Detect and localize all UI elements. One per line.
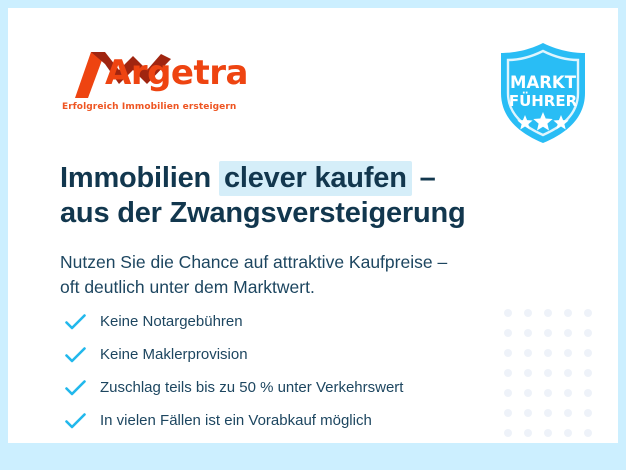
dot	[504, 409, 512, 417]
logo-wordmark: Argetra	[105, 56, 248, 90]
dot	[564, 309, 572, 317]
badge-line-1: MARKT	[510, 73, 577, 92]
dot	[504, 329, 512, 337]
badge-line-2: FÜHRER	[509, 91, 578, 110]
dot	[544, 389, 552, 397]
dot	[504, 309, 512, 317]
banner-card: Argetra Erfolgreich Immobilien ersteiger…	[8, 8, 618, 443]
checklist-item: Zuschlag teils bis zu 50 % unter Verkehr…	[64, 371, 494, 404]
check-icon	[64, 311, 86, 333]
checklist-item-label: In vielen Fällen ist ein Vorabkauf mögli…	[100, 413, 372, 428]
dot	[524, 369, 532, 377]
check-icon	[64, 344, 86, 366]
headline-highlight: clever kaufen	[219, 161, 412, 196]
subheadline-line-1: Nutzen Sie die Chance auf attraktive Kau…	[60, 250, 550, 275]
dot	[564, 389, 572, 397]
dot	[544, 409, 552, 417]
argetra-logo: Argetra Erfolgreich Immobilien ersteiger…	[61, 50, 211, 118]
shield-badge-icon: MARKT FÜHRER	[495, 41, 591, 145]
headline-text-after: –	[412, 162, 436, 194]
dot	[564, 349, 572, 357]
dot	[524, 349, 532, 357]
checklist-item-label: Keine Maklerprovision	[100, 347, 248, 362]
checklist-item-label: Keine Notargebühren	[100, 314, 243, 329]
dot	[544, 329, 552, 337]
checklist-item-label: Zuschlag teils bis zu 50 % unter Verkehr…	[100, 380, 403, 395]
promo-banner: Argetra Erfolgreich Immobilien ersteiger…	[0, 0, 626, 470]
dot	[524, 309, 532, 317]
headline: Immobilien clever kaufen – aus der Zwang…	[60, 161, 540, 229]
dot	[584, 369, 592, 377]
dot	[584, 349, 592, 357]
dot	[504, 389, 512, 397]
subheadline: Nutzen Sie die Chance auf attraktive Kau…	[60, 250, 550, 301]
dot	[524, 429, 532, 437]
dot	[584, 429, 592, 437]
check-icon	[64, 410, 86, 432]
checklist-item: Keine Maklerprovision	[64, 338, 494, 371]
dot	[584, 389, 592, 397]
dot	[524, 409, 532, 417]
checklist-item: In vielen Fällen ist ein Vorabkauf mögli…	[64, 404, 494, 437]
dot	[584, 309, 592, 317]
logo-tagline: Erfolgreich Immobilien ersteigern	[62, 102, 236, 112]
dot	[544, 309, 552, 317]
benefits-checklist: Keine NotargebührenKeine Maklerprovision…	[64, 305, 494, 437]
headline-line-2: aus der Zwangsversteigerung	[60, 196, 540, 230]
dot	[544, 369, 552, 377]
check-icon	[64, 377, 86, 399]
dot	[564, 329, 572, 337]
dot	[524, 389, 532, 397]
subheadline-line-2: oft deutlich unter dem Marktwert.	[60, 275, 550, 300]
dot	[564, 369, 572, 377]
dot-grid-decoration	[498, 303, 608, 443]
dot	[584, 409, 592, 417]
dot	[504, 369, 512, 377]
dot	[504, 349, 512, 357]
headline-text-before: Immobilien	[60, 162, 219, 194]
dot	[544, 349, 552, 357]
dot	[524, 329, 532, 337]
dot	[584, 329, 592, 337]
dot	[504, 429, 512, 437]
headline-line-1: Immobilien clever kaufen –	[60, 161, 540, 195]
dot	[564, 429, 572, 437]
dot	[544, 429, 552, 437]
checklist-item: Keine Notargebühren	[64, 305, 494, 338]
dot	[564, 409, 572, 417]
markt-fuehrer-badge: MARKT FÜHRER	[495, 41, 591, 145]
